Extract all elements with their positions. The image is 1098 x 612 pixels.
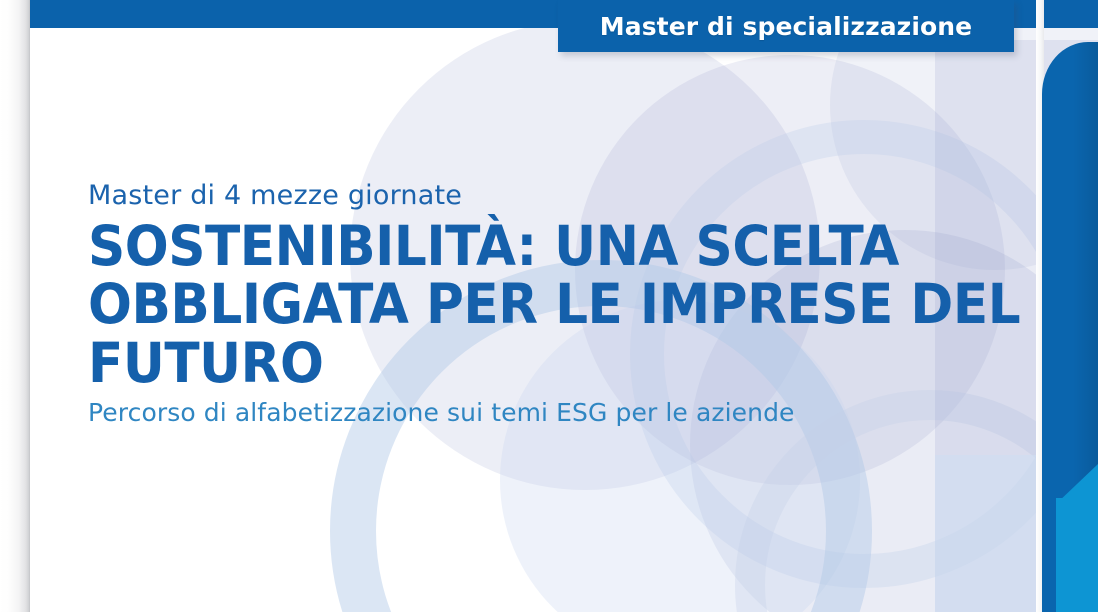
page-title-line-1: SOSTENIBILITÀ: UNA SCELTA bbox=[88, 217, 990, 275]
master-type-badge: Master di specializzazione bbox=[558, 0, 1014, 52]
page-subtitle: Percorso di alfabetizzazione sui temi ES… bbox=[88, 398, 1048, 428]
page-title-line-3: FUTURO bbox=[88, 334, 990, 392]
page-title-line-2: OBBLIGATA PER LE IMPRESE DEL bbox=[88, 275, 990, 333]
page-left-gutter bbox=[0, 0, 30, 612]
right-edge-light-band bbox=[1056, 498, 1098, 612]
master-type-badge-label: Master di specializzazione bbox=[600, 12, 973, 41]
poster-canvas: Master di 4 mezze giornate SOSTENIBILITÀ… bbox=[0, 0, 1098, 612]
page-surface: Master di 4 mezze giornate SOSTENIBILITÀ… bbox=[30, 0, 1098, 612]
hero-text-block: Master di 4 mezze giornate SOSTENIBILITÀ… bbox=[88, 180, 1048, 428]
page-title: SOSTENIBILITÀ: UNA SCELTA OBBLIGATA PER … bbox=[88, 217, 990, 392]
course-format-kicker: Master di 4 mezze giornate bbox=[88, 180, 1048, 211]
